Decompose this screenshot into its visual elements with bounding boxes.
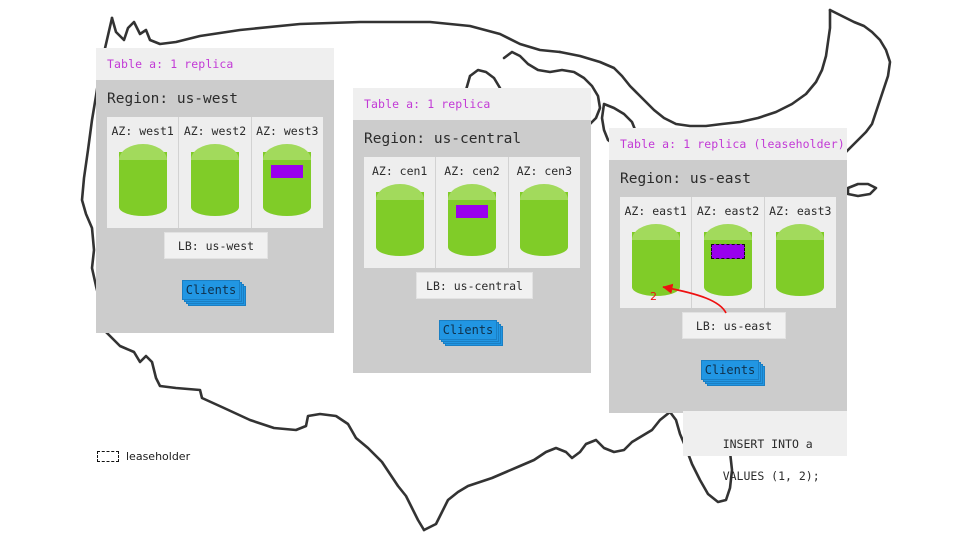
cylinder-body xyxy=(632,232,680,296)
node-cylinder-west3[interactable] xyxy=(263,144,311,216)
az-label-west3: AZ: west3 xyxy=(252,124,323,138)
cylinder-top xyxy=(191,144,239,160)
az-label-east1: AZ: east1 xyxy=(620,204,691,218)
load-balancer-us-central[interactable]: LB: us-central xyxy=(416,272,533,299)
region-title-us-central: Region: us-central xyxy=(353,120,591,157)
cylinder-top xyxy=(448,184,496,200)
region-header-us-west: Table a: 1 replica xyxy=(96,48,334,80)
load-balancer-us-east[interactable]: LB: us-east xyxy=(682,312,786,339)
region-panel-us-central: Table a: 1 replica Region: us-central AZ… xyxy=(353,88,591,373)
arrow-step-label: 2 xyxy=(650,290,657,303)
node-cylinder-cen2[interactable] xyxy=(448,184,496,256)
cylinder-body xyxy=(520,192,568,256)
az-east3[interactable]: AZ: east3 xyxy=(764,197,836,308)
clients-button-us-east[interactable]: Clients xyxy=(701,360,767,388)
dashed-rect-swatch-icon xyxy=(97,451,119,462)
az-label-cen2: AZ: cen2 xyxy=(436,164,507,178)
cylinder-top xyxy=(119,144,167,160)
region-panel-us-west: Table a: 1 replica Region: us-west AZ: w… xyxy=(96,48,334,333)
az-east2[interactable]: AZ: east2 xyxy=(691,197,763,308)
clients-button-us-central[interactable]: Clients xyxy=(439,320,505,348)
az-label-cen3: AZ: cen3 xyxy=(509,164,580,178)
az-cen1[interactable]: AZ: cen1 xyxy=(364,157,435,268)
cylinder-body xyxy=(376,192,424,256)
leaseholder-marker-east2 xyxy=(711,244,745,259)
az-label-east2: AZ: east2 xyxy=(692,204,763,218)
legend-label-leaseholder: leaseholder xyxy=(126,450,190,463)
az-label-cen1: AZ: cen1 xyxy=(364,164,435,178)
replica-marker-west3 xyxy=(271,165,303,178)
az-west3[interactable]: AZ: west3 xyxy=(251,117,323,228)
cylinder-top xyxy=(632,224,680,240)
cylinder-top xyxy=(776,224,824,240)
cylinder-body xyxy=(263,152,311,216)
clients-button-us-west[interactable]: Clients xyxy=(182,280,248,308)
az-west2[interactable]: AZ: west2 xyxy=(178,117,250,228)
az-cen2[interactable]: AZ: cen2 xyxy=(435,157,507,268)
node-cylinder-west2[interactable] xyxy=(191,144,239,216)
cylinder-body xyxy=(448,192,496,256)
sql-statement-note: INSERT INTO a VALUES (1, 2); xyxy=(683,411,847,456)
cylinder-body xyxy=(704,232,752,296)
diagram-canvas: Table a: 1 replica Region: us-west AZ: w… xyxy=(0,0,960,540)
region-header-us-east: Table a: 1 replica (leaseholder) xyxy=(609,128,847,160)
cylinder-top xyxy=(520,184,568,200)
sql-line-1: INSERT INTO a xyxy=(723,437,813,451)
az-row-us-west: AZ: west1 AZ: west2 AZ: west3 xyxy=(107,117,323,228)
node-cylinder-east2[interactable] xyxy=(704,224,752,296)
node-cylinder-cen1[interactable] xyxy=(376,184,424,256)
cylinder-body xyxy=(119,152,167,216)
az-label-west2: AZ: west2 xyxy=(179,124,250,138)
replica-marker-cen2 xyxy=(456,205,488,218)
az-row-us-central: AZ: cen1 AZ: cen2 AZ: cen3 xyxy=(364,157,580,268)
cylinder-body xyxy=(191,152,239,216)
node-cylinder-east3[interactable] xyxy=(776,224,824,296)
cylinder-top xyxy=(263,144,311,160)
node-cylinder-cen3[interactable] xyxy=(520,184,568,256)
node-cylinder-east1[interactable] xyxy=(632,224,680,296)
load-balancer-us-west[interactable]: LB: us-west xyxy=(164,232,268,259)
legend: leaseholder xyxy=(97,450,190,463)
cylinder-top xyxy=(376,184,424,200)
clients-label-us-central[interactable]: Clients xyxy=(439,320,497,340)
region-title-us-east: Region: us-east xyxy=(609,160,847,197)
az-label-west1: AZ: west1 xyxy=(107,124,178,138)
sql-line-2: VALUES (1, 2); xyxy=(723,469,820,483)
clients-label-us-west[interactable]: Clients xyxy=(182,280,240,300)
clients-label-us-east[interactable]: Clients xyxy=(701,360,759,380)
az-west1[interactable]: AZ: west1 xyxy=(107,117,178,228)
cylinder-body xyxy=(776,232,824,296)
az-label-east3: AZ: east3 xyxy=(765,204,836,218)
node-cylinder-west1[interactable] xyxy=(119,144,167,216)
region-panel-us-east: Table a: 1 replica (leaseholder) Region:… xyxy=(609,128,847,413)
az-cen3[interactable]: AZ: cen3 xyxy=(508,157,580,268)
region-title-us-west: Region: us-west xyxy=(96,80,334,117)
region-header-us-central: Table a: 1 replica xyxy=(353,88,591,120)
cylinder-top xyxy=(704,224,752,240)
